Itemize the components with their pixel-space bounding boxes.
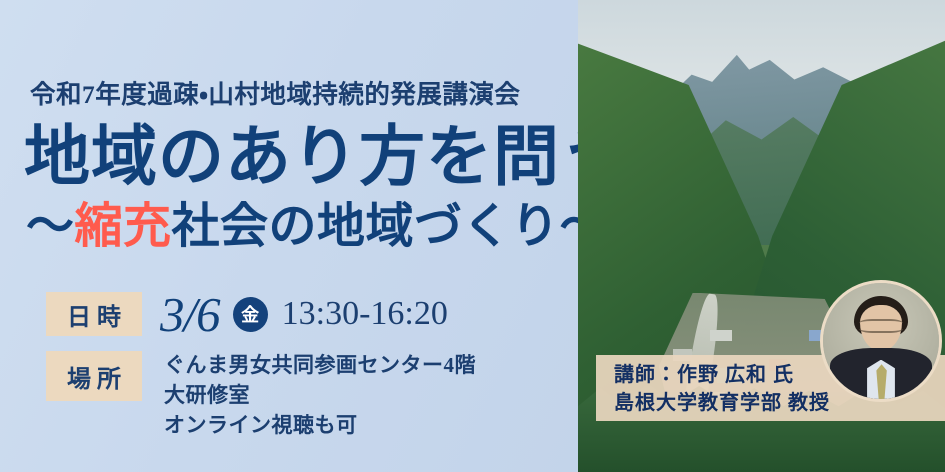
place-label-tag: 場所 [46, 351, 142, 401]
speaker-portrait-avatar [820, 280, 942, 402]
event-banner: 令和7年度過疎・山村地域持続的発展講演会 地域のあり方を問う 〜縮充社会の地域づ… [0, 0, 945, 472]
date-value-group: 3/6 金 13:30-16:20 [160, 292, 448, 336]
subtitle: 〜縮充社会の地域づくり〜 [26, 203, 608, 251]
subtitle-highlight: 縮充 [75, 200, 172, 253]
date-row: 日時 3/6 金 13:30-16:20 [46, 292, 566, 336]
time-range: 13:30-16:20 [282, 297, 448, 331]
event-details: 日時 3/6 金 13:30-16:20 場所 ぐんま男女共同参画センター4階 … [46, 292, 566, 440]
photo-building-roof [710, 330, 732, 340]
place-lines: ぐんま男女共同参画センター4階 大研修室 オンライン視聴も可 [164, 351, 476, 440]
glasses-icon [859, 319, 903, 333]
place-line-2: 大研修室 [164, 381, 476, 411]
kicker-text: 令和7年度過疎・山村地域持続的発展講演会 [30, 74, 520, 111]
date-value: 3/6 [160, 290, 220, 339]
subtitle-prefix: 〜 [26, 200, 75, 253]
subtitle-rest: 社会の地域づくり〜 [172, 200, 609, 253]
place-line-3: オンライン視聴も可 [164, 411, 476, 441]
place-line-1: ぐんま男女共同参画センター4階 [164, 351, 476, 381]
page-title: 地域のあり方を問う [24, 125, 627, 191]
day-of-week-badge: 金 [233, 297, 268, 332]
place-row: 場所 ぐんま男女共同参画センター4階 大研修室 オンライン視聴も可 [46, 351, 566, 440]
date-label-tag: 日時 [46, 292, 142, 336]
left-text-panel: 令和7年度過疎・山村地域持続的発展講演会 地域のあり方を問う 〜縮充社会の地域づ… [0, 0, 578, 472]
